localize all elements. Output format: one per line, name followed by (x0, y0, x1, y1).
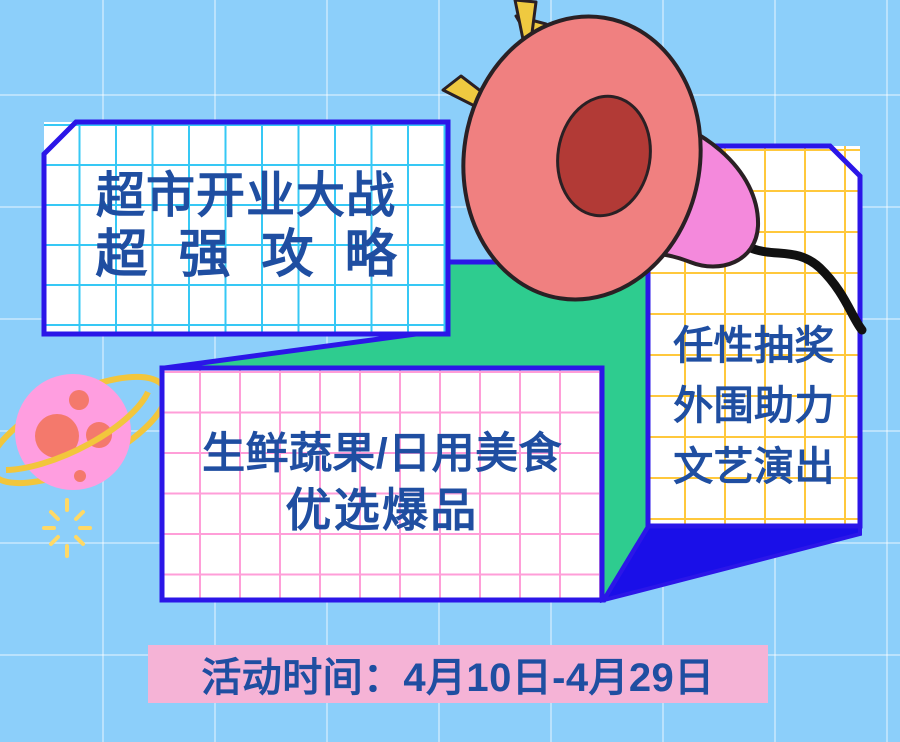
date-banner: 活动时间：4月10日-4月29日 (148, 645, 768, 703)
megaphone-decoration-layer (0, 0, 900, 742)
promo-poster: 超市开业大战 超 强 攻 略 生鲜蔬果/日用美食 优选爆品 任性抽奖 外围助力 … (0, 0, 900, 742)
date-banner-text: 活动时间：4月10日-4月29日 (201, 645, 714, 703)
